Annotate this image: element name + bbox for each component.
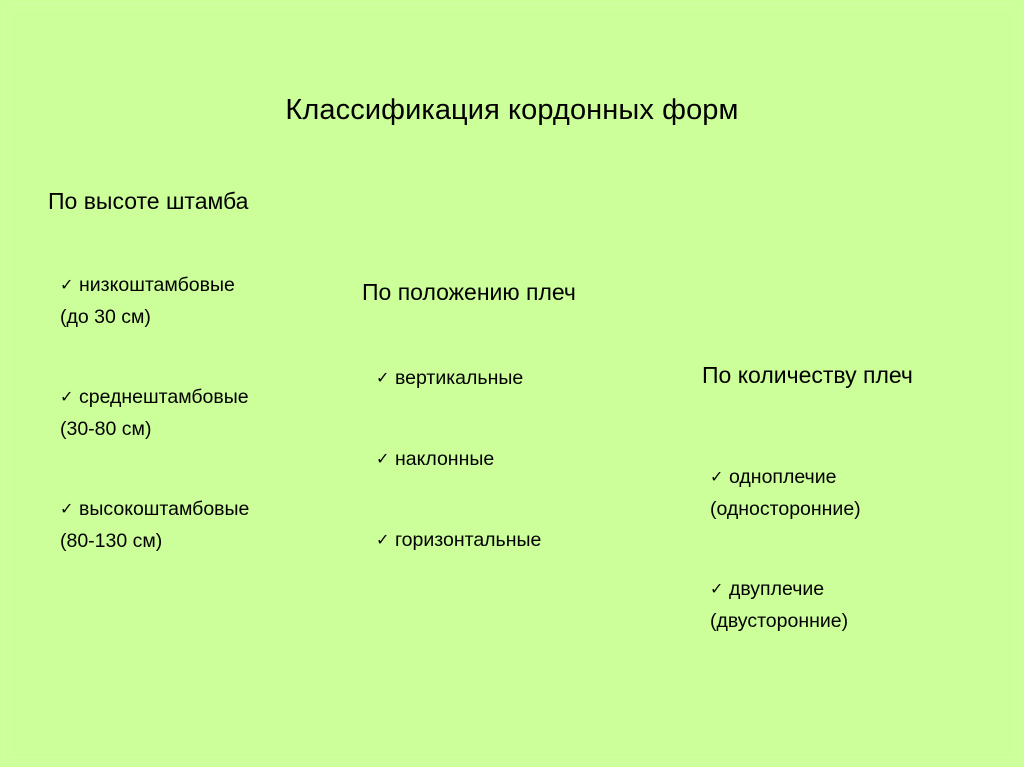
list-item-label: наклонные (395, 448, 494, 470)
check-icon: ✓ (710, 574, 729, 605)
list-item-label: высокоштамбовые (80-130 см) (60, 498, 249, 552)
slide-canvas: Классификация кордонных форм По высоте ш… (0, 0, 1024, 767)
list-item-label: двуплечие (двусторонние) (710, 578, 848, 632)
group-heading-arm-position: По положению плеч (362, 279, 662, 306)
group-list-arm-count: ✓одноплечие (односторонние) ✓двуплечие (… (710, 431, 1002, 637)
check-icon: ✓ (60, 494, 79, 525)
list-item-label: среднештамбовые (30-80 см) (60, 386, 249, 440)
check-icon: ✓ (710, 462, 729, 493)
page-title: Классификация кордонных форм (0, 93, 1024, 127)
group-list-trunk-height: ✓низкоштамбовые (до 30 см) ✓среднештамбо… (60, 239, 353, 557)
check-icon: ✓ (60, 270, 79, 301)
group-arm-position: По положению плеч ✓вертикальные ✓наклонн… (362, 279, 662, 557)
list-item: ✓вертикальные (376, 332, 662, 395)
check-icon: ✓ (60, 382, 79, 413)
list-item: ✓горизонтальные (376, 494, 662, 557)
group-heading-trunk-height: По высоте штамба (48, 188, 353, 215)
group-list-arm-position: ✓вертикальные ✓наклонные ✓горизонтальные (376, 332, 662, 557)
check-icon: ✓ (376, 525, 395, 556)
list-item: ✓наклонные (376, 413, 662, 476)
check-icon: ✓ (376, 444, 395, 475)
list-item: ✓низкоштамбовые (до 30 см) (60, 239, 353, 333)
group-arm-count: По количеству плеч ✓одноплечие (одностор… (702, 362, 1002, 637)
check-icon: ✓ (376, 363, 395, 394)
list-item-label: одноплечие (односторонние) (710, 466, 861, 520)
group-trunk-height: По высоте штамба ✓низкоштамбовые (до 30 … (48, 188, 353, 557)
list-item: ✓одноплечие (односторонние) (710, 431, 1002, 525)
list-item: ✓среднештамбовые (30-80 см) (60, 351, 353, 445)
list-item: ✓высокоштамбовые (80-130 см) (60, 463, 353, 557)
list-item-label: горизонтальные (395, 529, 541, 551)
list-item: ✓двуплечие (двусторонние) (710, 543, 1002, 637)
list-item-label: низкоштамбовые (до 30 см) (60, 274, 235, 328)
group-heading-arm-count: По количеству плеч (702, 362, 1002, 389)
list-item-label: вертикальные (395, 367, 523, 389)
